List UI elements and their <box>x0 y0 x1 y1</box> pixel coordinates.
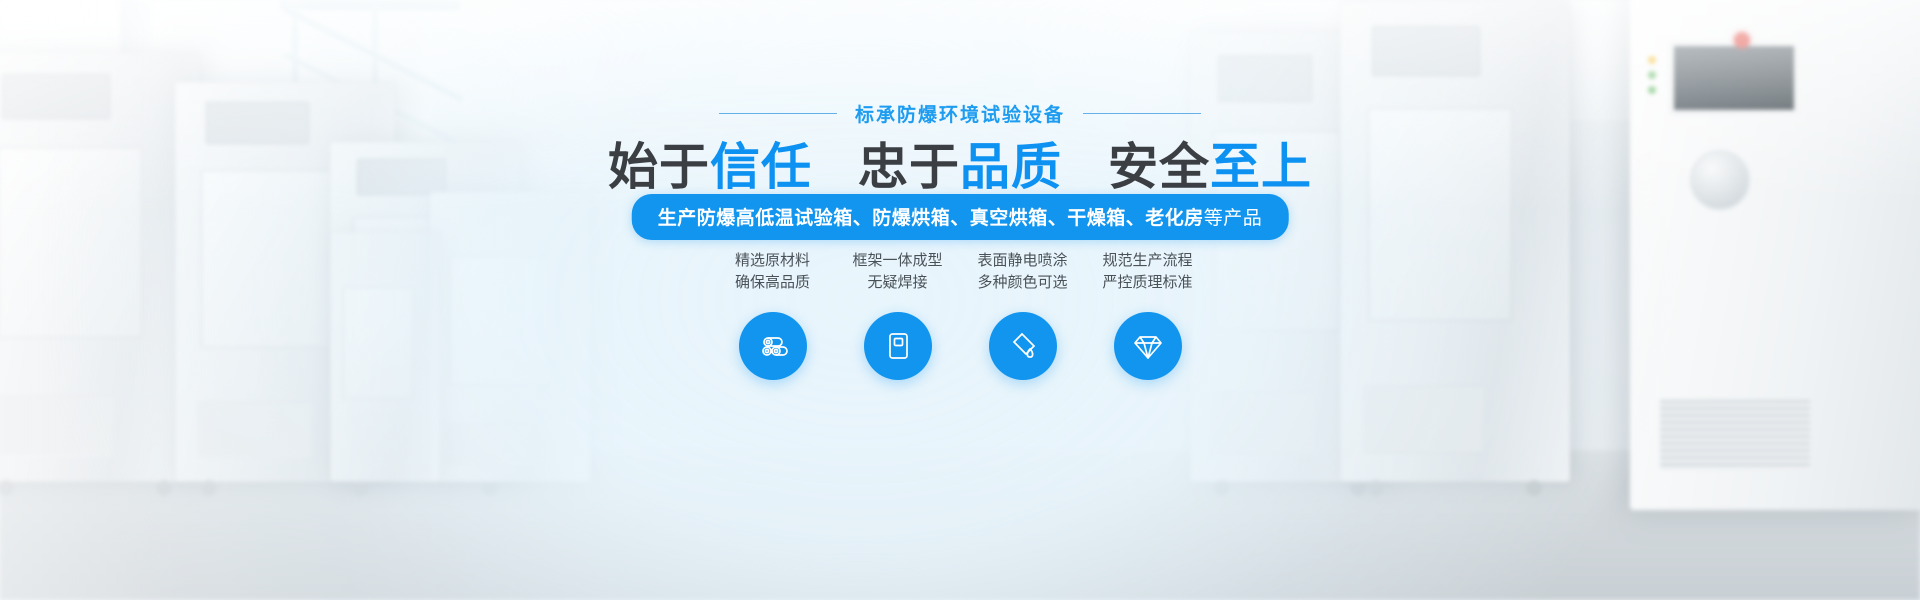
headline-3-accent: 至上 <box>1210 139 1312 195</box>
subtitle-strong: 生产防爆高低温试验箱、防爆烘箱、真空烘箱、干燥箱、老化房 <box>658 208 1204 229</box>
feature-3-line1: 表面静电喷涂 <box>977 250 1067 272</box>
feature-2-line2: 无疑焊接 <box>867 272 927 294</box>
feature-3-icon-circle[interactable] <box>989 312 1057 380</box>
eyebrow-text: 标承防爆环境试验设备 <box>855 100 1065 127</box>
feature-item-process[interactable]: 规范生产流程 严控质理标准 <box>1085 250 1210 380</box>
feature-4-line2: 严控质理标准 <box>1102 272 1192 294</box>
subtitle-thin: 等产品 <box>1204 208 1263 229</box>
headline-1-accent: 信任 <box>710 139 812 195</box>
headline-3-dark: 安全 <box>1108 139 1210 195</box>
feature-4-icon-circle[interactable] <box>1114 312 1182 380</box>
feature-1-line1: 精选原材料 <box>735 250 810 272</box>
subtitle-pill: 生产防爆高低温试验箱、防爆烘箱、真空烘箱、干燥箱、老化房等产品 <box>632 194 1289 240</box>
hero-banner: RGD-1001 RGD-100 <box>0 0 1920 600</box>
feature-item-raw-material[interactable]: 精选原材料 确保高品质 <box>710 250 835 380</box>
feature-list: 精选原材料 确保高品质 框架一体成型 无 <box>710 250 1210 380</box>
eyebrow-rule-right <box>1083 113 1201 114</box>
feature-2-icon-circle[interactable] <box>864 312 932 380</box>
diamond-icon <box>1131 329 1165 363</box>
feature-3-line2: 多种颜色可选 <box>977 272 1067 294</box>
banner-content: 标承防爆环境试验设备 始于信任 忠于品质 安全至上 生产防爆高低温试验箱、防爆烘… <box>0 0 1920 600</box>
framed-panel-icon <box>882 330 914 362</box>
headline-2-accent: 品质 <box>960 139 1062 195</box>
eyebrow-rule-left <box>719 113 837 114</box>
headline-2-dark: 忠于 <box>858 139 960 195</box>
stacked-pipes-icon <box>756 329 790 363</box>
feature-item-coating[interactable]: 表面静电喷涂 多种颜色可选 <box>960 250 1085 380</box>
headline: 始于信任 忠于品质 安全至上 <box>0 127 1920 199</box>
eyebrow-row: 标承防爆环境试验设备 <box>0 100 1920 127</box>
feature-1-line2: 确保高品质 <box>735 272 810 294</box>
feature-4-line1: 规范生产流程 <box>1102 250 1192 272</box>
headline-phrase-3: 安全至上 <box>1108 127 1312 199</box>
feature-1-icon-circle[interactable] <box>739 312 807 380</box>
headline-1-dark: 始于 <box>608 139 710 195</box>
feature-2-line1: 框架一体成型 <box>852 250 942 272</box>
feature-item-frame-forming[interactable]: 框架一体成型 无疑焊接 <box>835 250 960 380</box>
headline-phrase-1: 始于信任 <box>608 127 812 199</box>
headline-phrase-2: 忠于品质 <box>858 127 1062 199</box>
spray-coating-icon <box>1006 329 1040 363</box>
